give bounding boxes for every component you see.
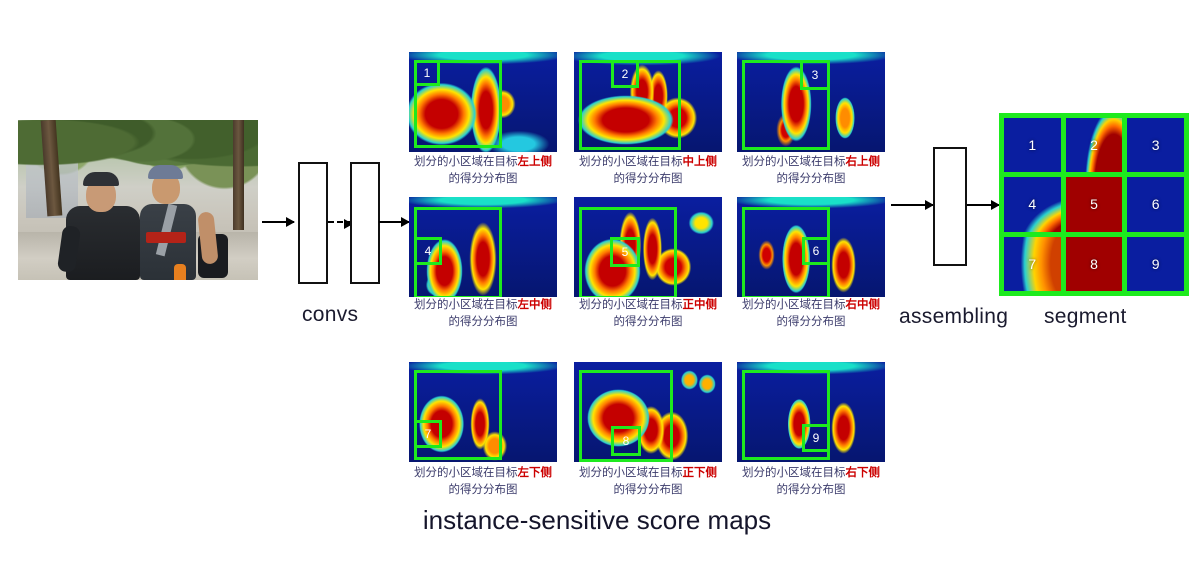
score-map-2: 2 [574,52,722,152]
segment-cell-1: 1 [1004,118,1061,172]
caption-suffix-7: 的得分分布图 [449,484,518,496]
score-map-index-5: 5 [622,245,629,259]
caption-prefix-6: 划分的小区域在目标 [742,299,846,311]
caption-suffix-8: 的得分分布图 [614,484,683,496]
subregion-box-2: 2 [611,60,639,88]
subregion-box-1: 1 [414,60,440,86]
caption-suffix-5: 的得分分布图 [614,316,683,328]
caption-highlight-1: 左上侧 [518,156,553,168]
arrow-conv-dashed [328,221,352,223]
caption-highlight-6: 右中侧 [846,299,881,311]
subregion-box-3: 3 [800,60,830,90]
subregion-box-6: 6 [802,237,830,265]
score-map-caption-6: 划分的小区域在目标右中侧 的得分分布图 [727,297,895,330]
arrow-maps-to-assembling [891,204,933,206]
segment-label: segment [1044,305,1127,329]
photo-tree-trunk-right [233,120,244,230]
caption-suffix-6: 的得分分布图 [777,316,846,328]
caption-highlight-8: 正下侧 [683,467,718,479]
segment-cell-9: 9 [1127,237,1184,291]
convs-label: convs [302,303,358,327]
caption-suffix-4: 的得分分布图 [449,316,518,328]
score-map-index-3: 3 [812,68,819,82]
score-map-9: 9 [737,362,885,462]
score-map-caption-1: 划分的小区域在目标左上侧 的得分分布图 [399,154,567,187]
caption-highlight-5: 正中侧 [683,299,718,311]
subregion-box-9: 9 [802,424,830,452]
segment-cell-8: 8 [1066,237,1123,291]
subregion-box-5: 5 [610,237,640,267]
caption-prefix-8: 划分的小区域在目标 [579,467,683,479]
assembling-box [933,147,967,266]
score-map-caption-2: 划分的小区域在目标中上侧 的得分分布图 [564,154,732,187]
score-map-8: 8 [574,362,722,462]
score-map-index-7: 7 [425,427,432,441]
score-map-caption-3: 划分的小区域在目标右上侧 的得分分布图 [727,154,895,187]
caption-highlight-2: 中上侧 [683,156,718,168]
caption-highlight-3: 右上侧 [846,156,881,168]
segment-cell-7: 7 [1004,237,1061,291]
caption-prefix-4: 划分的小区域在目标 [414,299,518,311]
caption-prefix-3: 划分的小区域在目标 [742,156,846,168]
score-map-index-4: 4 [425,244,432,258]
score-map-caption-9: 划分的小区域在目标右下侧 的得分分布图 [727,465,895,498]
caption-highlight-7: 左下侧 [518,467,553,479]
caption-prefix-1: 划分的小区域在目标 [414,156,518,168]
caption-suffix-3: 的得分分布图 [777,173,846,185]
caption-highlight-4: 左中侧 [518,299,553,311]
score-map-4: 4 [409,197,557,297]
arrow-assembling-to-segment [967,204,999,206]
score-map-5: 5 [574,197,722,297]
score-map-caption-4: 划分的小区域在目标左中侧 的得分分布图 [399,297,567,330]
score-map-6: 6 [737,197,885,297]
segment-cell-3: 3 [1127,118,1184,172]
caption-prefix-9: 划分的小区域在目标 [742,467,846,479]
caption-highlight-9: 右下侧 [846,467,881,479]
segment-grid: 1 2 3 4 5 6 7 8 9 [999,113,1189,296]
subregion-box-7: 7 [414,420,442,448]
conv-layer-1 [298,162,328,284]
score-map-3: 3 [737,52,885,152]
score-map-index-2: 2 [622,67,629,81]
segment-cell-6: 6 [1127,177,1184,231]
caption-prefix-5: 划分的小区域在目标 [579,299,683,311]
score-map-index-8: 8 [623,434,630,448]
segment-cell-5: 5 [1066,177,1123,231]
score-map-caption-7: 划分的小区域在目标左下侧 的得分分布图 [399,465,567,498]
caption-suffix-1: 的得分分布图 [449,173,518,185]
caption-prefix-2: 划分的小区域在目标 [579,156,683,168]
score-map-index-1: 1 [424,66,431,80]
caption-suffix-9: 的得分分布图 [777,484,846,496]
segment-cell-2: 2 [1066,118,1123,172]
segment-cell-4: 4 [1004,177,1061,231]
arrow-convs-to-maps [379,221,409,223]
conv-layer-n [350,162,380,284]
arrow-input-to-convs [262,221,294,223]
subregion-box-8: 8 [611,426,641,456]
figure-canvas: convs 1 划分的小区域在目标左上侧 的得分分布图 2 划分的小区域在目标中… [0,0,1194,562]
subregion-box-4: 4 [414,237,442,265]
photo-person-right [130,160,212,280]
score-map-caption-5: 划分的小区域在目标正中侧 的得分分布图 [564,297,732,330]
assembling-label: assembling [899,305,1008,329]
score-map-caption-8: 划分的小区域在目标正下侧 的得分分布图 [564,465,732,498]
caption-suffix-2: 的得分分布图 [614,173,683,185]
caption-prefix-7: 划分的小区域在目标 [414,467,518,479]
figure-title: instance-sensitive score maps [0,505,1194,536]
score-map-1: 1 [409,52,557,152]
score-map-index-6: 6 [813,244,820,258]
score-map-7: 7 [409,362,557,462]
input-photo [18,120,258,280]
score-map-index-9: 9 [813,431,820,445]
